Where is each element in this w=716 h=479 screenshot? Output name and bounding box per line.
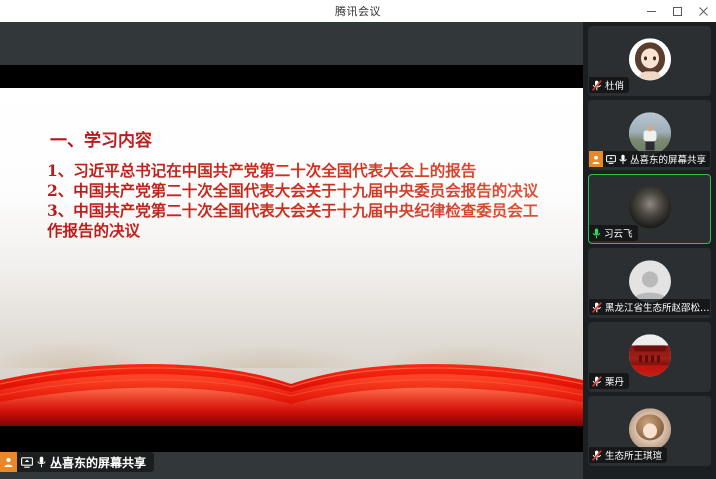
participant-name-label: 生态所王琪瑄 bbox=[605, 448, 662, 462]
avatar bbox=[629, 38, 671, 80]
host-badge-icon bbox=[589, 151, 603, 167]
avatar bbox=[629, 334, 671, 376]
participant-tile[interactable]: 黑龙江省生态所赵邵松T… bbox=[588, 248, 711, 318]
screen-share-icon bbox=[21, 457, 33, 468]
slide-line: 2、中国共产党第二十次全国代表大会关于十九届中央委员会报告的决议 bbox=[47, 181, 547, 201]
maximize-button[interactable] bbox=[664, 0, 690, 22]
minimize-button[interactable] bbox=[638, 0, 664, 22]
shared-screen-viewport: 一、学习内容 1、习近平总书记在中国共产党第二十次全国代表大会上的报告 2、中国… bbox=[0, 22, 583, 452]
slide-line-list: 1、习近平总书记在中国共产党第二十次全国代表大会上的报告 2、中国共产党第二十次… bbox=[47, 161, 547, 242]
avatar bbox=[629, 186, 671, 228]
letterbox-top bbox=[0, 65, 583, 88]
participant-name-tag: 生态所王琪瑄 bbox=[589, 447, 667, 463]
shared-screen-bottom-bar: 丛喜东的屏幕共享 bbox=[0, 452, 583, 479]
participant-video-strip[interactable]: 杜俏 bbox=[583, 22, 716, 479]
participant-tile[interactable]: 生态所王琪瑄 bbox=[588, 396, 711, 466]
avatar bbox=[629, 112, 671, 154]
slide-heading: 一、学习内容 bbox=[50, 130, 547, 153]
letterbox-bottom bbox=[0, 426, 583, 452]
participant-name-label: 栗丹 bbox=[605, 374, 624, 388]
mic-on-icon bbox=[619, 154, 627, 165]
window-controls bbox=[638, 0, 716, 22]
mic-muted-icon bbox=[592, 80, 602, 91]
presenter-name-tag: 丛喜东的屏幕共享 bbox=[0, 452, 154, 472]
screen-share-icon bbox=[606, 155, 616, 164]
mic-muted-icon bbox=[592, 302, 602, 313]
mic-on-icon bbox=[37, 456, 46, 468]
presenter-name-label: 丛喜东的屏幕共享 bbox=[50, 454, 146, 471]
participant-name-label: 杜俏 bbox=[605, 78, 624, 92]
participant-tile[interactable]: 杜俏 bbox=[588, 26, 711, 96]
participant-name-tag: 丛喜东的屏幕共享 bbox=[589, 151, 711, 167]
participant-tile[interactable]: 丛喜东的屏幕共享 bbox=[588, 100, 711, 170]
avatar bbox=[629, 408, 671, 450]
participant-tile-active-speaker[interactable]: 习云飞 bbox=[588, 174, 711, 244]
participant-name-tag: 习云飞 bbox=[589, 225, 638, 241]
participant-name-tag: 黑龙江省生态所赵邵松T… bbox=[589, 299, 711, 315]
mic-on-icon bbox=[592, 228, 601, 239]
avatar bbox=[629, 260, 671, 302]
slide-red-ribbon-graphic bbox=[0, 354, 583, 426]
participant-name-tag: 杜俏 bbox=[589, 77, 629, 93]
slide-text-block: 一、学习内容 1、习近平总书记在中国共产党第二十次全国代表大会上的报告 2、中国… bbox=[47, 130, 547, 242]
tencent-meeting-window: 腾讯会议 bbox=[0, 0, 716, 479]
slide-line: 1、习近平总书记在中国共产党第二十次全国代表大会上的报告 bbox=[47, 161, 547, 181]
mic-muted-icon bbox=[592, 376, 602, 387]
slide-background-wash bbox=[0, 246, 583, 426]
mic-muted-icon bbox=[592, 450, 602, 461]
slide-line: 3、中国共产党第二十次全国代表大会关于十九届中央纪律检查委员会工作报告的决议 bbox=[47, 201, 547, 241]
participant-name-label: 习云飞 bbox=[604, 226, 633, 240]
presentation-slide: 一、学习内容 1、习近平总书记在中国共产党第二十次全国代表大会上的报告 2、中国… bbox=[0, 88, 583, 426]
window-title-bar: 腾讯会议 bbox=[0, 0, 716, 23]
participant-tile[interactable]: 栗丹 bbox=[588, 322, 711, 392]
generic-person-icon bbox=[629, 260, 671, 302]
participant-name-tag: 栗丹 bbox=[589, 373, 629, 389]
participant-name-label: 黑龙江省生态所赵邵松T… bbox=[605, 300, 711, 314]
host-badge-icon bbox=[0, 452, 17, 472]
close-button[interactable] bbox=[690, 0, 716, 22]
window-title: 腾讯会议 bbox=[335, 3, 381, 19]
participant-name-label: 丛喜东的屏幕共享 bbox=[630, 152, 706, 166]
shared-screen-stage[interactable]: 一、学习内容 1、习近平总书记在中国共产党第二十次全国代表大会上的报告 2、中国… bbox=[0, 22, 583, 479]
slide-background-skyline bbox=[0, 248, 583, 368]
